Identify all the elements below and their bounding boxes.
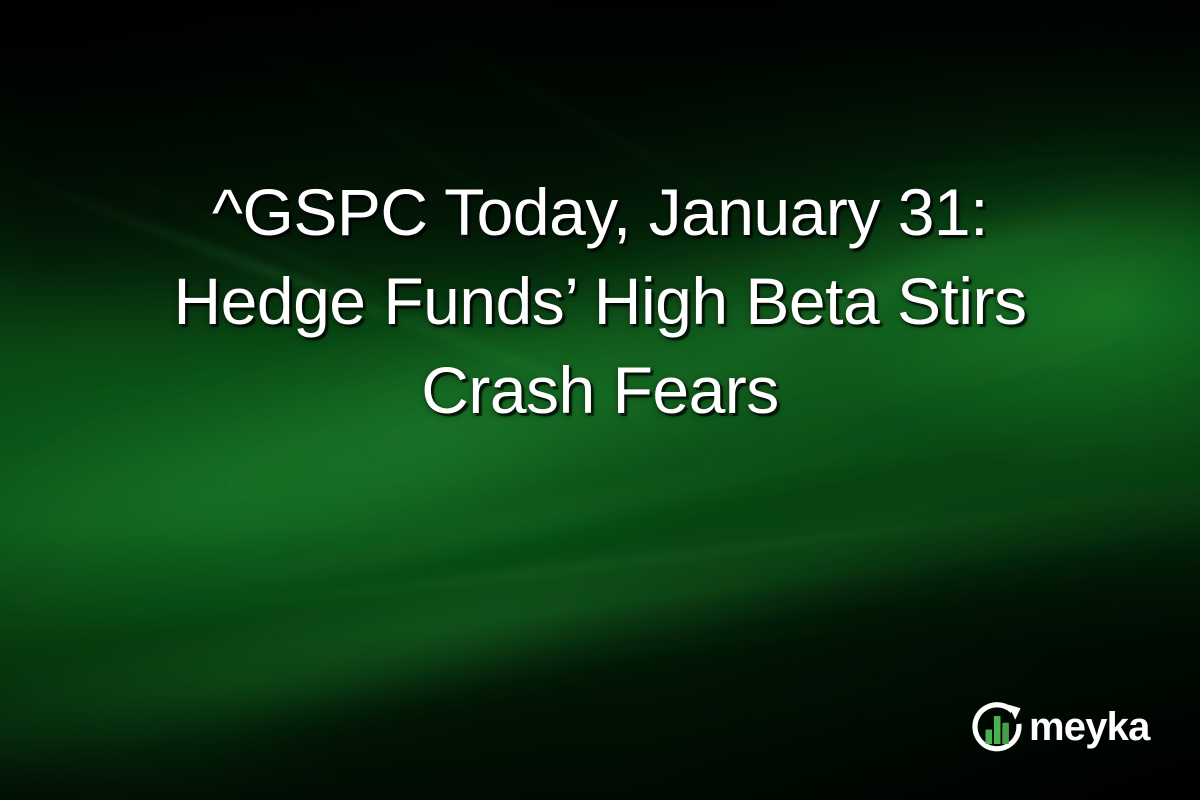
meyka-logo-icon bbox=[968, 698, 1026, 756]
brand-logo[interactable]: meyka bbox=[968, 698, 1150, 756]
brand-wordmark: meyka bbox=[1029, 707, 1150, 747]
headline-container: ^GSPC Today, January 31: Hedge Funds’ Hi… bbox=[0, 168, 1200, 435]
share-card: ^GSPC Today, January 31: Hedge Funds’ Hi… bbox=[0, 0, 1200, 800]
page-title: ^GSPC Today, January 31: Hedge Funds’ Hi… bbox=[70, 168, 1130, 435]
